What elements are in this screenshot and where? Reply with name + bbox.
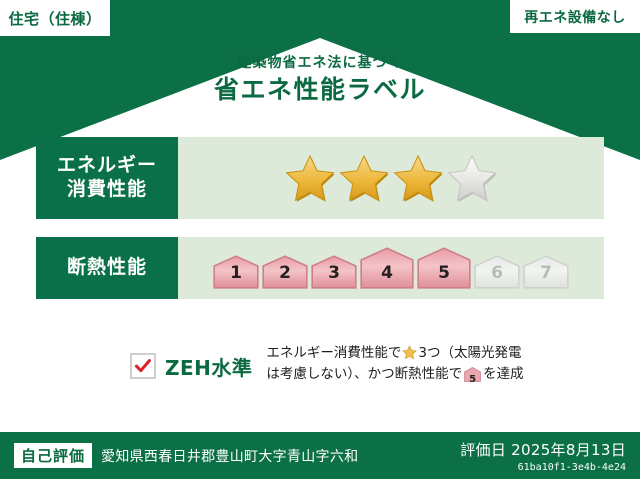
zeh-desc-text-4: を達成 xyxy=(483,366,524,382)
evaluation-id: 61ba10f1-3e4b-4e24 xyxy=(460,462,626,473)
star-rating xyxy=(178,137,604,219)
page-title: 省エネ性能ラベル xyxy=(0,76,640,104)
insulation-level-badge: 3 xyxy=(311,255,357,289)
renewable-equipment-tag: 再エネ設備なし xyxy=(510,0,640,33)
insulation-level-badge: 5 xyxy=(417,247,471,289)
zeh-label: ZEH水準 xyxy=(165,352,252,381)
insulation-label-line1: 断熱性能 xyxy=(67,256,147,280)
star-icon xyxy=(402,345,417,360)
housing-type-tag: 住宅（住棟） xyxy=(0,0,110,36)
insulation-level-badges: 1234567 xyxy=(213,247,569,289)
energy-performance-label: エネルギー 消費性能 xyxy=(36,137,178,219)
energy-label-line1: エネルギー xyxy=(57,154,157,178)
insulation-level-number: 4 xyxy=(360,263,414,283)
insulation-level-number: 6 xyxy=(474,263,520,283)
star-icon-filled xyxy=(284,153,336,203)
insulation-level-number: 5 xyxy=(417,263,471,283)
evaluation-date: 評価日 2025年8月13日 xyxy=(460,439,626,460)
star-icon-filled xyxy=(338,153,390,203)
self-evaluation-badge: 自己評価 xyxy=(14,443,92,468)
insulation-levels-body: 1234567 xyxy=(178,237,604,299)
zeh-desc-text-3: は考慮しない）、かつ断熱性能で xyxy=(266,366,462,382)
label-title-block: 建築物省エネ法に基づく 省エネ性能ラベル xyxy=(0,56,640,104)
footer-right-block: 評価日 2025年8月13日 61ba10f1-3e4b-4e24 xyxy=(460,439,626,473)
insulation-level-badge: 7 xyxy=(523,255,569,289)
insulation-level-badge: 2 xyxy=(262,255,308,289)
zeh-desc-text-1: エネルギー消費性能で xyxy=(266,345,401,361)
zeh-description-line1: エネルギー消費性能で3つ（太陽光発電 xyxy=(266,343,523,364)
zeh-description: エネルギー消費性能で3つ（太陽光発電 は考慮しない）、かつ断熱性能で5を達成 xyxy=(266,343,523,389)
insulation-level-badge: 6 xyxy=(474,255,520,289)
energy-label-line2: 消費性能 xyxy=(67,178,147,202)
energy-performance-label: 住宅（住棟） 再エネ設備なし 建築物省エネ法に基づく 省エネ性能ラベル エネルギ… xyxy=(0,0,640,479)
zeh-desc-text-2: 3つ（太陽光発電 xyxy=(418,345,521,361)
insulation-performance-label: 断熱性能 xyxy=(36,237,178,299)
insulation-performance-row: 断熱性能 1234567 xyxy=(36,237,604,299)
energy-performance-row: エネルギー 消費性能 xyxy=(36,137,604,219)
zeh-checkbox[interactable] xyxy=(130,353,156,379)
footer-bar: 自己評価 愛知県西春日井郡豊山町大字青山字六和 評価日 2025年8月13日 6… xyxy=(0,432,640,479)
insulation-level-badge: 4 xyxy=(360,247,414,289)
property-address: 愛知県西春日井郡豊山町大字青山字六和 xyxy=(101,446,460,466)
inline-level-number: 5 xyxy=(464,372,481,388)
insulation-level-badge: 1 xyxy=(213,255,259,289)
insulation-level-number: 7 xyxy=(523,263,569,283)
title-subtitle: 建築物省エネ法に基づく xyxy=(0,56,640,71)
insulation-level-number: 3 xyxy=(311,263,357,283)
star-icon-filled xyxy=(392,153,444,203)
zeh-standard-block: ZEH水準 エネルギー消費性能で3つ（太陽光発電 は考慮しない）、かつ断熱性能で… xyxy=(36,338,604,394)
insulation-level-number: 2 xyxy=(262,263,308,283)
check-icon xyxy=(134,357,152,375)
zeh-description-line2: は考慮しない）、かつ断熱性能で5を達成 xyxy=(266,364,523,389)
insulation-level-number: 1 xyxy=(213,263,259,283)
star-icon-empty xyxy=(446,153,498,203)
inline-level-badge: 5 xyxy=(464,367,481,389)
